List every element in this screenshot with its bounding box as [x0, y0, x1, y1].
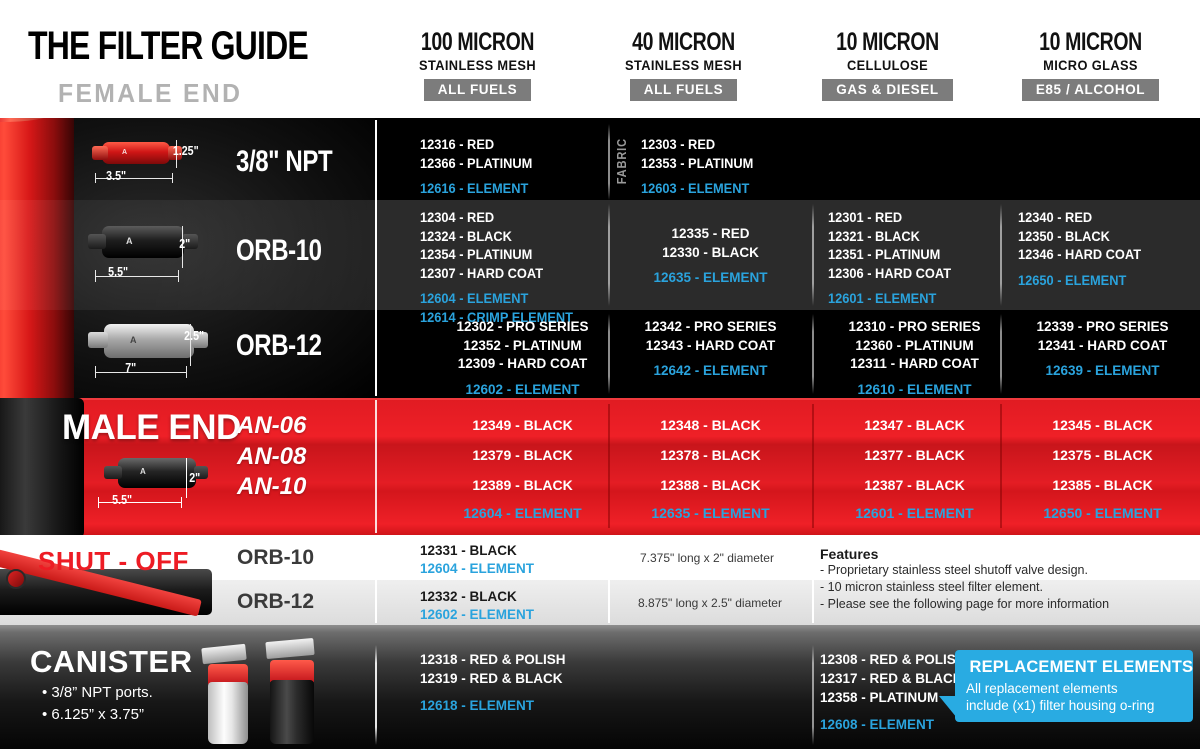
- dimension-diameter-orb-10: 2": [179, 236, 190, 251]
- part-line: 12319 - RED & BLACK: [420, 669, 635, 688]
- cell-orb12-10micron-cellulose: 12310 - PRO SERIES 12360 - PLATINUM 1231…: [812, 318, 1017, 399]
- column-divider-main-male: [375, 400, 377, 533]
- canister-photo-polish: [196, 646, 258, 746]
- part-line: 12321 - BLACK: [828, 228, 1023, 247]
- column-divider-2: [812, 314, 814, 394]
- filter-body: [104, 324, 194, 358]
- column-divider-main: [375, 120, 377, 396]
- part-line: 12311 - HARD COAT: [812, 355, 1017, 374]
- cell-an08-40micron: 12378 - BLACK: [608, 446, 813, 464]
- column-fuel-chip: ALL FUELS: [424, 79, 531, 101]
- dimension-tick-right: [172, 173, 173, 183]
- cell-orb10-10micron-cellulose: 12301 - RED 12321 - BLACK 12351 - PLATIN…: [828, 209, 1033, 309]
- dimension-diameter-38-npt: 1.25": [173, 143, 199, 158]
- part-line: 12389 - BLACK: [420, 476, 625, 494]
- cell-orb10-10micron-microglass: 12340 - RED 12350 - BLACK 12346 - HARD C…: [1018, 209, 1200, 290]
- dimension-length-orb-12: 7": [125, 360, 136, 375]
- badge-line-2: include (x1) filter housing o-ring: [966, 698, 1154, 713]
- part-line-element: 12602 - ELEMENT: [420, 606, 635, 624]
- part-line-element: 12601 - ELEMENT: [812, 504, 1017, 522]
- part-line: 12354 - PLATINUM: [420, 246, 615, 265]
- feature-item: - 10 micron stainless steel filter eleme…: [820, 579, 1109, 596]
- features-block: Features - Proprietary stainless steel s…: [820, 546, 1109, 613]
- section-title-canister: CANISTER: [30, 644, 192, 680]
- column-header-10-micron-cellulose: 10 MICRON CELLULOSE GAS & DIESEL: [785, 30, 990, 101]
- part-line: 12331 - BLACK: [420, 542, 635, 560]
- part-line: 12350 - BLACK: [1018, 228, 1200, 247]
- dimension-length-orb-10: 5.5": [108, 264, 128, 279]
- dimension-tick-right: [186, 366, 187, 378]
- cell-an08-10micron-microglass: 12375 - BLACK: [1000, 446, 1200, 464]
- column-micron-label: 10 MICRON: [808, 30, 968, 55]
- cell-an10-10micron-microglass: 12385 - BLACK: [1000, 476, 1200, 494]
- dimension-tick-left: [95, 270, 96, 282]
- part-line-element: 12642 - ELEMENT: [608, 362, 813, 381]
- column-fuel-chip: GAS & DIESEL: [822, 79, 952, 101]
- part-line: 12340 - RED: [1018, 209, 1200, 228]
- part-line: 12375 - BLACK: [1000, 446, 1200, 464]
- part-line: 12306 - HARD COAT: [828, 265, 1023, 284]
- cell-an06-10micron-cellulose: 12347 - BLACK: [812, 416, 1017, 434]
- dimension-tick-right: [178, 270, 179, 282]
- column-divider-1: [608, 124, 610, 200]
- canister-body: [208, 682, 248, 744]
- column-fuel-chip: E85 / ALCOHOL: [1022, 79, 1159, 101]
- dimension-diameter-male-end: 2": [189, 470, 200, 485]
- column-divider-2: [812, 204, 814, 306]
- column-divider-1: [608, 314, 610, 394]
- cell-male-element-10micron-cellulose: 12601 - ELEMENT: [812, 504, 1017, 522]
- cell-38npt-100micron: 12316 - RED 12366 - PLATINUM 12616 - ELE…: [420, 136, 625, 199]
- cell-an10-40micron: 12388 - BLACK: [608, 476, 813, 494]
- part-line-element: 12604 - ELEMENT: [420, 560, 635, 578]
- cell-shutoff-orb12-parts: 12332 - BLACK 12602 - ELEMENT: [420, 588, 635, 624]
- feature-item: - Please see the following page for more…: [820, 596, 1109, 613]
- part-line-element: 12603 - ELEMENT: [641, 180, 836, 199]
- badge-subtitle: All replacement elements include (x1) fi…: [966, 680, 1154, 714]
- cell-an08-100micron: 12379 - BLACK: [420, 446, 625, 464]
- cell-an06-100micron: 12349 - BLACK: [420, 416, 625, 434]
- part-line-element: 12601 - ELEMENT: [828, 290, 1023, 309]
- cell-an06-40micron: 12348 - BLACK: [608, 416, 813, 434]
- feature-item: - Proprietary stainless steel shutoff va…: [820, 562, 1109, 579]
- cell-38npt-40micron: 12303 - RED 12353 - PLATINUM 12603 - ELE…: [641, 136, 846, 199]
- column-material-label: STAINLESS MESH: [380, 58, 575, 73]
- valve-pivot-graphic: [6, 569, 26, 589]
- column-divider-main-canister: [375, 645, 377, 745]
- dimension-line-horizontal: [98, 502, 182, 503]
- column-micron-label: 40 MICRON: [604, 30, 764, 55]
- column-micron-label: 10 MICRON: [1011, 30, 1171, 55]
- badge-title: REPLACEMENT ELEMENTS: [969, 657, 1193, 677]
- part-line: 12309 - HARD COAT: [420, 355, 625, 374]
- dimension-tick-right: [181, 497, 182, 508]
- canister-body: [270, 680, 314, 744]
- fabric-side-label: FABRIC: [614, 138, 629, 184]
- column-divider-1-shutoff: [608, 537, 610, 623]
- filter-end-cap-left: [92, 146, 108, 160]
- dimension-tick-left: [98, 497, 99, 508]
- canister-red-top: [208, 664, 248, 684]
- part-line: 12343 - HARD COAT: [608, 337, 813, 356]
- part-line: 12304 - RED: [420, 209, 615, 228]
- shutoff-dimension-orb-12: 8.875" long x 2.5" diameter: [638, 596, 782, 610]
- cell-orb12-40micron: 12342 - PRO SERIES 12343 - HARD COAT 126…: [608, 318, 813, 381]
- part-line-element: 12618 - ELEMENT: [420, 696, 635, 715]
- cell-an08-10micron-cellulose: 12377 - BLACK: [812, 446, 1017, 464]
- part-line: 12346 - HARD COAT: [1018, 246, 1200, 265]
- part-line: 12377 - BLACK: [812, 446, 1017, 464]
- canister-bullet-1: • 3/8” NPT ports.: [42, 684, 153, 701]
- dimension-line-vertical: [186, 458, 187, 498]
- cell-orb12-100micron: 12302 - PRO SERIES 12352 - PLATINUM 1230…: [420, 318, 625, 399]
- size-label-an-10: AN-10: [237, 473, 306, 501]
- row-label-orb-10: ORB-10: [236, 234, 322, 268]
- cell-male-element-10micron-microglass: 12650 - ELEMENT: [1000, 504, 1200, 522]
- section-title-shutoff: SHUT - OFF: [38, 546, 189, 577]
- filter-body: [102, 226, 184, 258]
- row-label-38-npt: 3/8" NPT: [236, 145, 332, 179]
- column-header-10-micron-micro-glass: 10 MICRON MICRO GLASS E85 / ALCOHOL: [988, 30, 1193, 101]
- filter-guide-sheet: THE FILTER GUIDE FEMALE END 100 MICRON S…: [0, 0, 1200, 749]
- column-micron-label: 100 MICRON: [398, 30, 558, 55]
- part-line: 12307 - HARD COAT: [420, 265, 615, 284]
- canister-bullet-2: • 6.125” x 3.75”: [42, 706, 144, 723]
- filter-body: [118, 458, 196, 488]
- part-line: 12352 - PLATINUM: [420, 337, 625, 356]
- part-line-element: 12602 - ELEMENT: [420, 381, 625, 400]
- cell-an10-10micron-cellulose: 12387 - BLACK: [812, 476, 1017, 494]
- aeromotive-logo-icon: A: [130, 335, 137, 345]
- part-line: 12318 - RED & POLISH: [420, 650, 635, 669]
- part-line-element: 12616 - ELEMENT: [420, 180, 615, 199]
- part-line: 12387 - BLACK: [812, 476, 1017, 494]
- part-line: 12348 - BLACK: [608, 416, 813, 434]
- section-subtitle-female-end: FEMALE END: [58, 78, 242, 109]
- badge-line-1: All replacement elements: [966, 681, 1118, 696]
- part-line-element: 12650 - ELEMENT: [1018, 272, 1200, 291]
- column-material-label: STAINLESS MESH: [586, 58, 781, 73]
- cell-male-element-40micron: 12635 - ELEMENT: [608, 504, 813, 522]
- part-line: 12345 - BLACK: [1000, 416, 1200, 434]
- cell-an06-10micron-microglass: 12345 - BLACK: [1000, 416, 1200, 434]
- dimension-tick-left: [95, 173, 96, 183]
- shutoff-dimension-orb-10: 7.375" long x 2" diameter: [640, 551, 774, 565]
- cell-male-element-100micron: 12604 - ELEMENT: [420, 504, 625, 522]
- filter-end-cap-left: [104, 466, 122, 479]
- column-fuel-chip: ALL FUELS: [630, 79, 737, 101]
- cell-orb10-100micron: 12304 - RED 12324 - BLACK 12354 - PLATIN…: [420, 209, 625, 327]
- canister-red-top: [270, 660, 314, 682]
- aeromotive-logo-icon: A: [140, 467, 146, 476]
- dimension-length-38-npt: 3.5": [106, 168, 126, 183]
- part-line: 12378 - BLACK: [608, 446, 813, 464]
- dimension-diameter-orb-12: 2.5": [184, 328, 204, 343]
- part-line-element: 12639 - ELEMENT: [1000, 362, 1200, 381]
- part-line: 12335 - RED: [608, 225, 813, 244]
- part-line-element: 12650 - ELEMENT: [1000, 504, 1200, 522]
- section-title-male-end: MALE END: [62, 408, 241, 448]
- column-divider-3-male: [1000, 404, 1002, 528]
- part-line: 12302 - PRO SERIES: [420, 318, 625, 337]
- cell-an10-100micron: 12389 - BLACK: [420, 476, 625, 494]
- part-line: 12385 - BLACK: [1000, 476, 1200, 494]
- cell-canister-100micron: 12318 - RED & POLISH 12319 - RED & BLACK…: [420, 650, 635, 715]
- canister-bracket: [201, 644, 246, 665]
- part-line: 12301 - RED: [828, 209, 1023, 228]
- part-line: 12349 - BLACK: [420, 416, 625, 434]
- part-line: 12303 - RED: [641, 136, 836, 155]
- column-material-label: CELLULOSE: [790, 58, 985, 73]
- cell-orb10-40micron: 12335 - RED 12330 - BLACK 12635 - ELEMEN…: [608, 225, 813, 288]
- column-material-label: MICRO GLASS: [993, 58, 1188, 73]
- column-divider-1-male: [608, 404, 610, 528]
- dimension-line-horizontal: [95, 372, 187, 373]
- features-heading: Features: [820, 546, 1109, 562]
- column-divider-1: [608, 204, 610, 306]
- canister-bracket: [265, 638, 314, 659]
- cell-shutoff-orb10-parts: 12331 - BLACK 12604 - ELEMENT: [420, 542, 635, 578]
- part-line: 12388 - BLACK: [608, 476, 813, 494]
- part-line: 12366 - PLATINUM: [420, 155, 615, 174]
- column-divider-2-shutoff: [812, 537, 814, 623]
- cell-orb12-10micron-microglass: 12339 - PRO SERIES 12341 - HARD COAT 126…: [1000, 318, 1200, 381]
- filter-end-cap-left: [88, 234, 106, 249]
- part-line: 12332 - BLACK: [420, 588, 635, 606]
- part-line: 12341 - HARD COAT: [1000, 337, 1200, 356]
- part-line-element: 12635 - ELEMENT: [608, 269, 813, 288]
- page-title: THE FILTER GUIDE: [28, 24, 308, 69]
- part-line: 12339 - PRO SERIES: [1000, 318, 1200, 337]
- product-photo-38-npt: A: [92, 138, 182, 168]
- replacement-elements-badge: REPLACEMENT ELEMENTS All replacement ele…: [955, 650, 1193, 722]
- part-line: 12316 - RED: [420, 136, 615, 155]
- filter-end-cap-left: [88, 332, 108, 348]
- row-label-orb-12: ORB-12: [236, 329, 322, 363]
- part-line-element: 12604 - ELEMENT: [420, 290, 615, 309]
- part-line: 12353 - PLATINUM: [641, 155, 836, 174]
- aeromotive-logo-icon: A: [122, 149, 127, 156]
- aeromotive-logo-icon: A: [126, 236, 133, 246]
- header: THE FILTER GUIDE FEMALE END 100 MICRON S…: [0, 0, 1200, 118]
- canister-photo-black: [258, 640, 324, 746]
- part-line-element: 12604 - ELEMENT: [420, 504, 625, 522]
- column-header-100-micron: 100 MICRON STAINLESS MESH ALL FUELS: [375, 30, 580, 101]
- part-line: 12330 - BLACK: [608, 244, 813, 263]
- shutoff-label-orb-12: ORB-12: [237, 590, 314, 614]
- dimension-length-male-end: 5.5": [112, 492, 132, 507]
- part-line: 12347 - BLACK: [812, 416, 1017, 434]
- part-line: 12360 - PLATINUM: [812, 337, 1017, 356]
- part-line: 12324 - BLACK: [420, 228, 615, 247]
- part-line-element: 12635 - ELEMENT: [608, 504, 813, 522]
- column-divider-main-shutoff: [375, 537, 377, 623]
- size-label-an-06: AN-06: [237, 412, 306, 440]
- part-line: 12351 - PLATINUM: [828, 246, 1023, 265]
- dimension-tick-left: [95, 366, 96, 378]
- column-divider-3: [1000, 314, 1002, 394]
- filter-body: [102, 142, 170, 164]
- shutoff-label-orb-10: ORB-10: [237, 546, 314, 570]
- part-line: 12342 - PRO SERIES: [608, 318, 813, 337]
- size-label-an-08: AN-08: [237, 443, 306, 471]
- column-header-40-micron: 40 MICRON STAINLESS MESH ALL FUELS: [581, 30, 786, 101]
- part-line-element: 12610 - ELEMENT: [812, 381, 1017, 400]
- part-line: 12379 - BLACK: [420, 446, 625, 464]
- part-line: 12310 - PRO SERIES: [812, 318, 1017, 337]
- column-divider-3: [1000, 204, 1002, 306]
- column-divider-2-canister: [812, 645, 814, 745]
- column-divider-2-male: [812, 404, 814, 528]
